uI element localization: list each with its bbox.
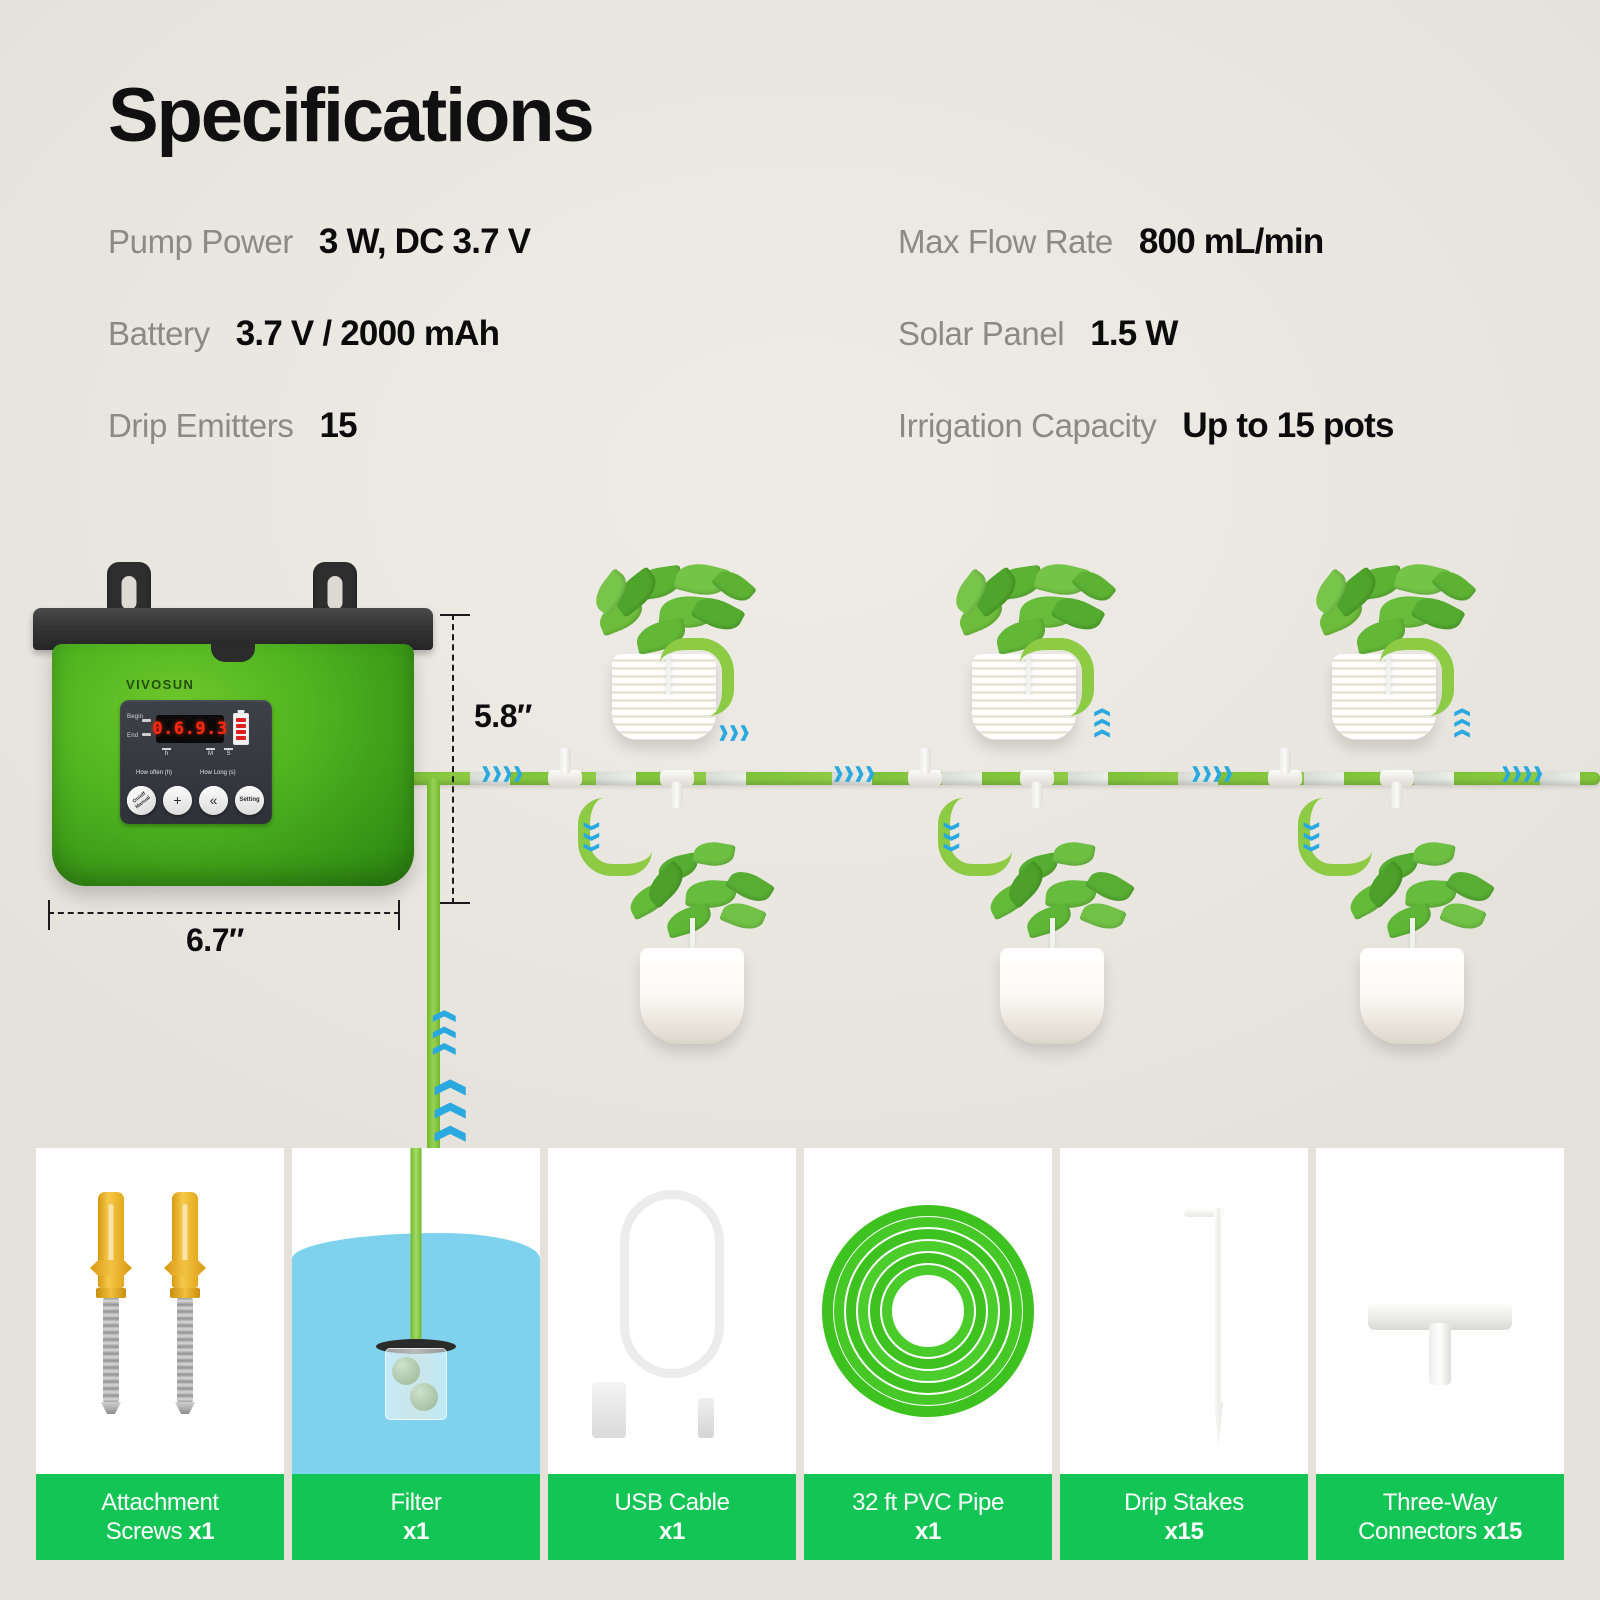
usb-a-connector <box>592 1382 626 1438</box>
accessory-image <box>548 1148 796 1474</box>
accessory-image <box>292 1148 540 1474</box>
accessory-label: USB Cable x1 <box>548 1474 796 1560</box>
flow-arrow-icon: ❱❱❱ <box>1096 708 1108 740</box>
accessory-label: Attachment Screws x1 <box>36 1474 284 1560</box>
spec-label: Irrigation Capacity <box>898 407 1156 445</box>
spec-value: 15 <box>320 406 357 446</box>
flow-arrow-icon: ❱❱❱ <box>586 820 598 852</box>
control-panel: Begin End 0.6.9.3 h M S <box>120 700 272 824</box>
panel-captions: How often (h) How Long (s) <box>120 770 272 780</box>
tee-stub <box>1280 748 1291 774</box>
spec-row-max-flow-rate: Max Flow Rate 800 mL/min <box>898 222 1498 314</box>
drip-tube <box>660 638 734 716</box>
end-indicator-led <box>142 733 151 736</box>
accessory-label: 32 ft PVC Pipe x1 <box>804 1474 1052 1560</box>
tee-connector <box>908 770 942 786</box>
tee-connector <box>1020 770 1054 786</box>
accessory-image <box>804 1148 1052 1474</box>
flow-arrow-icon: ❱❱❱ <box>1306 820 1318 852</box>
drip-tube <box>1020 638 1094 716</box>
infographic-canvas: Specifications Pump Power 3 W, DC 3.7 V … <box>0 0 1600 1600</box>
panel-buttons: On/off Manual + « Setting <box>127 786 267 815</box>
flow-arrow-icon: ❱❱❱ <box>717 727 749 741</box>
begin-indicator-led <box>142 719 151 722</box>
specifications-grid: Pump Power 3 W, DC 3.7 V Max Flow Rate 8… <box>108 222 1488 498</box>
wall-anchor-screw-icon <box>98 1192 124 1414</box>
accessory-card-drip-stakes: Drip Stakes x15 <box>1060 1148 1308 1560</box>
height-dimension-label: 5.8″ <box>474 698 532 735</box>
on-off-manual-button[interactable]: On/off Manual <box>121 780 162 821</box>
plus-button[interactable]: + <box>163 786 192 815</box>
plant-pot <box>1360 948 1464 1044</box>
tee-stub <box>560 748 571 774</box>
spec-label: Solar Panel <box>898 315 1064 353</box>
end-label: End <box>127 733 138 739</box>
usb-cable-icon <box>620 1190 724 1378</box>
plant-pot <box>640 948 744 1044</box>
lcd-value: 0.6.9.3 <box>152 719 227 739</box>
spec-row-irrigation-capacity: Irrigation Capacity Up to 15 pots <box>898 406 1498 498</box>
tee-stub <box>1032 782 1043 808</box>
accessory-card-usb-cable: USB Cable x1 <box>548 1148 796 1560</box>
accessory-card-pvc-pipe: 32 ft PVC Pipe x1 <box>804 1148 1052 1560</box>
accessory-card-attachment-screws: Attachment Screws x1 <box>36 1148 284 1560</box>
flow-arrow-icon: ❱❱❱❱ <box>480 768 522 780</box>
lcd-display: 0.6.9.3 <box>156 715 224 743</box>
tee-connector <box>548 770 582 786</box>
unit-seconds: S <box>224 748 233 757</box>
tee-connector <box>1380 770 1414 786</box>
spec-row-battery: Battery 3.7 V / 2000 mAh <box>108 314 898 406</box>
tee-stub <box>672 782 683 808</box>
spec-value: Up to 15 pots <box>1182 406 1393 446</box>
herb-foliage <box>1338 838 1508 948</box>
flow-arrow-icon: ❱❱❱❱ <box>832 768 874 780</box>
flow-arrow-icon: ❱❱❱ <box>1456 708 1468 740</box>
filter-housing-icon <box>385 1348 447 1420</box>
plant-pot <box>1000 948 1104 1044</box>
unit-marks: h M S <box>120 748 272 760</box>
unit-minutes: M <box>206 748 215 757</box>
setting-button[interactable]: Setting <box>235 786 264 815</box>
flow-arrow-icon: ❱❱❱ <box>946 820 958 852</box>
begin-label: Begin <box>127 714 143 720</box>
spec-value: 3 W, DC 3.7 V <box>319 222 530 262</box>
flow-arrow-icon: ❱❱❱❱ <box>1190 768 1232 780</box>
accessories-grid: Attachment Screws x1 Filter x1 <box>36 1148 1564 1560</box>
flow-arrow-icon: ❱❱❱❱ <box>1500 768 1542 780</box>
accessory-image <box>1060 1148 1308 1474</box>
pump-controller-device: VIVOSUN Begin End 0.6.9.3 h M <box>30 560 450 960</box>
spec-label: Drip Emitters <box>108 407 294 445</box>
height-dimension-line <box>452 614 454 904</box>
accessory-label: Drip Stakes x15 <box>1060 1474 1308 1560</box>
tee-stub <box>920 748 931 774</box>
flow-arrow-icon: ❱❱❱ <box>434 1009 451 1058</box>
back-button[interactable]: « <box>199 786 228 815</box>
spec-value: 1.5 W <box>1090 314 1177 354</box>
spec-label: Pump Power <box>108 223 293 261</box>
accessory-label: Three-Way Connectors x15 <box>1316 1474 1564 1560</box>
spec-row-solar-panel: Solar Panel 1.5 W <box>898 314 1498 406</box>
tee-connector <box>1268 770 1302 786</box>
flow-arrow-icon: ❱❱❱ <box>437 1077 460 1146</box>
how-often-label: How often (h) <box>136 770 172 776</box>
brand-logo: VIVOSUN <box>126 677 194 692</box>
spec-label: Battery <box>108 315 210 353</box>
accessory-image <box>1316 1148 1564 1474</box>
accessory-label: Filter x1 <box>292 1474 540 1560</box>
unit-hours: h <box>162 748 171 757</box>
filter-intake-tube <box>411 1148 422 1346</box>
device-body: VIVOSUN Begin End 0.6.9.3 h M <box>52 644 414 886</box>
tee-stub <box>1392 782 1403 808</box>
spec-row-pump-power: Pump Power 3 W, DC 3.7 V <box>108 222 898 314</box>
accessory-card-three-way-connectors: Three-Way Connectors x15 <box>1316 1148 1564 1560</box>
width-dimension-line <box>48 912 400 914</box>
battery-indicator-icon <box>233 713 249 745</box>
spec-value: 3.7 V / 2000 mAh <box>236 314 499 354</box>
spec-label: Max Flow Rate <box>898 223 1113 261</box>
accessory-image <box>36 1148 284 1474</box>
herb-foliage <box>978 838 1148 948</box>
how-long-label: How Long (s) <box>200 770 236 776</box>
wall-anchor-screw-icon <box>172 1192 198 1414</box>
herb-foliage <box>618 838 788 948</box>
page-title: Specifications <box>108 78 592 154</box>
spec-row-drip-emitters: Drip Emitters 15 <box>108 406 898 498</box>
spec-value: 800 mL/min <box>1139 222 1324 262</box>
accessory-card-filter: Filter x1 <box>292 1148 540 1560</box>
micro-usb-connector <box>698 1398 714 1438</box>
tee-connector <box>660 770 694 786</box>
drip-tube <box>1380 638 1454 716</box>
width-dimension-label: 6.7″ <box>186 922 244 959</box>
